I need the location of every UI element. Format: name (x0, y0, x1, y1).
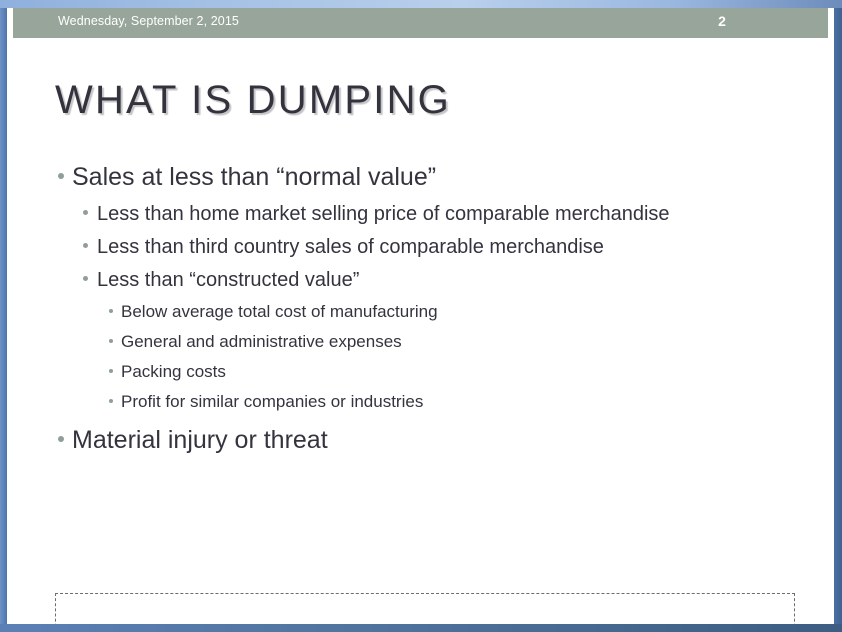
slide-canvas: Wednesday, September 2, 2015 2 WHAT IS D… (7, 8, 834, 624)
bullet-dot-icon (109, 399, 113, 403)
list-item-label: Profit for similar companies or industri… (121, 387, 423, 417)
list-item-label: Below average total cost of manufacturin… (121, 297, 438, 327)
list-item: Less than “constructed value” (7, 264, 834, 297)
list-item: Profit for similar companies or industri… (7, 387, 834, 417)
list-item-label: Less than “constructed value” (97, 264, 359, 297)
list-item: Material injury or threat (7, 421, 834, 459)
list-item: Less than home market selling price of c… (7, 198, 834, 231)
list-item-label: Material injury or threat (72, 421, 328, 459)
list-item: Below average total cost of manufacturin… (7, 297, 834, 327)
bullet-dot-icon (83, 276, 88, 281)
bullet-dot-icon (109, 309, 113, 313)
bullet-dot-icon (83, 210, 88, 215)
window-bottom-border (0, 624, 842, 632)
slide-window: Wednesday, September 2, 2015 2 WHAT IS D… (0, 0, 842, 632)
list-item: Sales at less than “normal value” (7, 158, 834, 196)
bullet-dot-icon (58, 173, 64, 179)
list-item-label: Sales at less than “normal value” (72, 158, 436, 196)
list-item-label: Less than home market selling price of c… (97, 198, 670, 231)
window-top-border (0, 0, 842, 8)
empty-content-placeholder[interactable] (55, 593, 795, 624)
page-title: WHAT IS DUMPING (55, 78, 451, 123)
list-item: Packing costs (7, 357, 834, 387)
list-item: General and administrative expenses (7, 327, 834, 357)
bullet-dot-icon (58, 436, 64, 442)
slide-page-number: 2 (707, 13, 737, 29)
list-item-label: General and administrative expenses (121, 327, 402, 357)
bullet-dot-icon (109, 369, 113, 373)
slide-header-bar: Wednesday, September 2, 2015 2 (13, 8, 828, 38)
header-date: Wednesday, September 2, 2015 (58, 14, 239, 28)
bullet-dot-icon (83, 243, 88, 248)
list-item: Less than third country sales of compara… (7, 231, 834, 264)
bullet-dot-icon (109, 339, 113, 343)
list-item-label: Less than third country sales of compara… (97, 231, 604, 264)
bullet-list: Sales at less than “normal value” Less t… (7, 158, 834, 461)
list-item-label: Packing costs (121, 357, 226, 387)
